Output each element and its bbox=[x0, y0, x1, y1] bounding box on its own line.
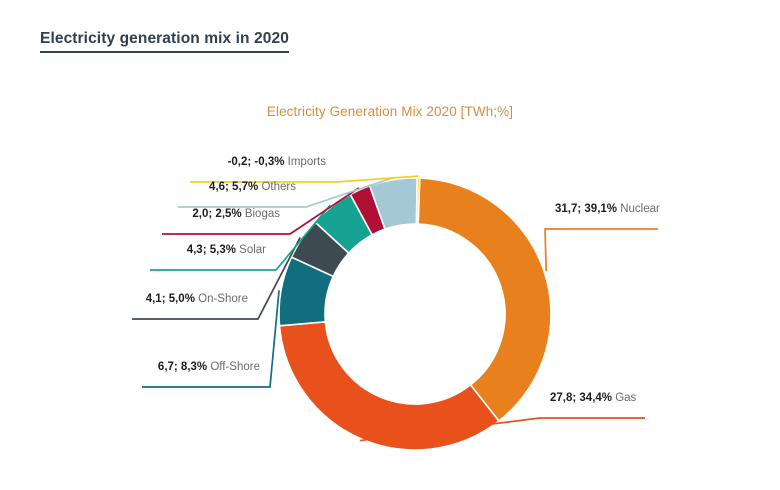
callout-name: Solar bbox=[236, 244, 266, 256]
callout-name: On-Shore bbox=[195, 293, 248, 305]
callout-value: 4,1; 5,0% bbox=[146, 293, 195, 305]
callout-value: 4,3; 5,3% bbox=[187, 244, 236, 256]
callout-name: Gas bbox=[612, 392, 636, 404]
callout-name: Others bbox=[258, 181, 296, 193]
donut-chart-svg bbox=[0, 0, 780, 490]
callout-name: Off-Shore bbox=[207, 361, 260, 373]
donut-slice-gas[interactable] bbox=[280, 322, 499, 450]
callout-value: 4,6; 5,7% bbox=[209, 181, 258, 193]
callout-label-imports[interactable]: -0,2; -0,3% Imports bbox=[228, 156, 326, 169]
callout-value: -0,2; -0,3% bbox=[228, 156, 285, 168]
leader-line-nuclear bbox=[545, 229, 658, 271]
callout-label-nuclear[interactable]: 31,7; 39,1% Nuclear bbox=[555, 203, 660, 216]
callout-label-off-shore[interactable]: 6,7; 8,3% Off-Shore bbox=[158, 361, 260, 374]
callout-name: Imports bbox=[284, 156, 326, 168]
callout-label-solar[interactable]: 4,3; 5,3% Solar bbox=[187, 244, 266, 257]
callout-label-biogas[interactable]: 2,0; 2,5% Biogas bbox=[192, 208, 280, 221]
callout-name: Biogas bbox=[242, 208, 280, 220]
callout-name: Nuclear bbox=[617, 203, 660, 215]
callout-label-on-shore[interactable]: 4,1; 5,0% On-Shore bbox=[146, 293, 248, 306]
callout-value: 27,8; 34,4% bbox=[550, 392, 612, 404]
callout-value: 2,0; 2,5% bbox=[192, 208, 241, 220]
callout-label-gas[interactable]: 27,8; 34,4% Gas bbox=[550, 392, 636, 405]
page-root: Electricity generation mix in 2020 Elect… bbox=[0, 0, 780, 490]
callout-label-others[interactable]: 4,6; 5,7% Others bbox=[209, 181, 296, 194]
donut-slice-nuclear[interactable] bbox=[418, 178, 551, 421]
callout-value: 31,7; 39,1% bbox=[555, 203, 617, 215]
callout-value: 6,7; 8,3% bbox=[158, 361, 207, 373]
chart-container: Electricity Generation Mix 2020 [TWh;%] … bbox=[0, 0, 780, 490]
